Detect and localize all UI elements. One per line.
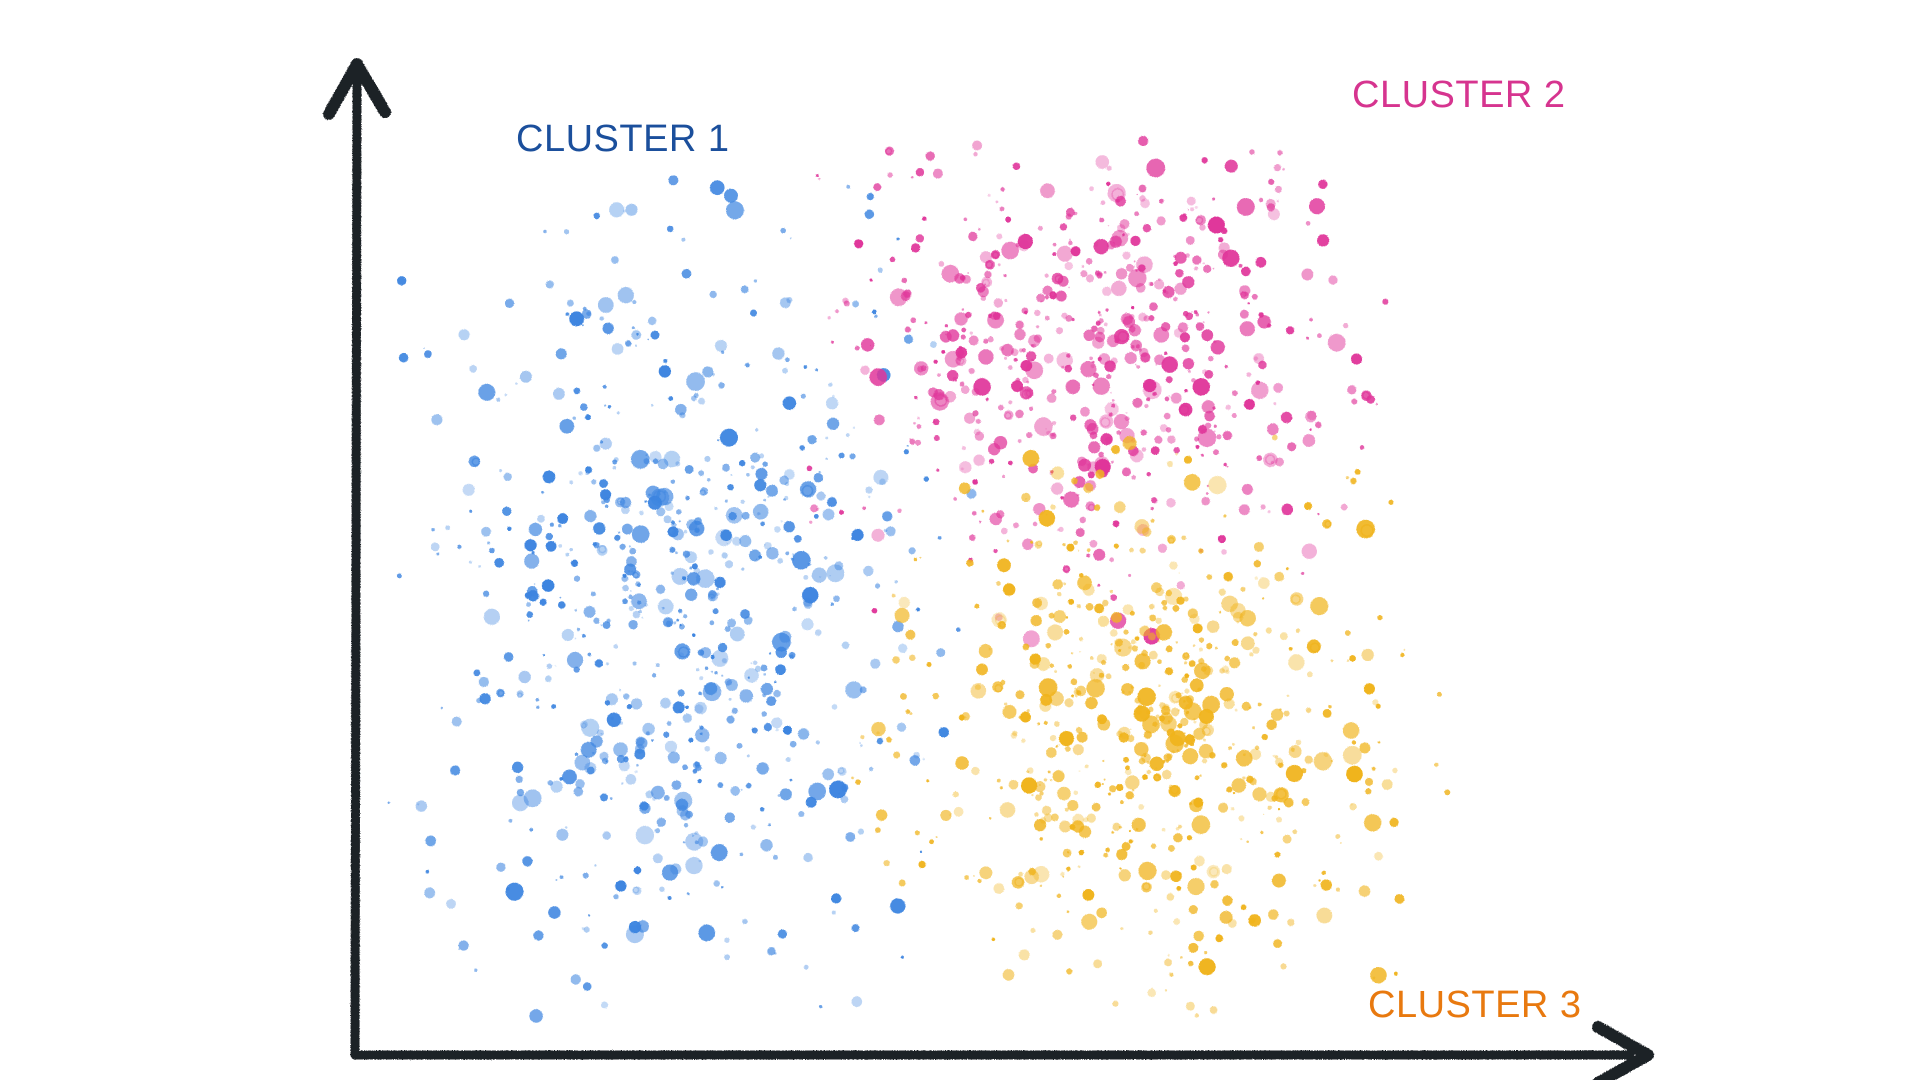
data-point [842, 298, 848, 304]
data-point [570, 548, 573, 551]
data-point [996, 233, 1002, 239]
data-point [1267, 423, 1279, 435]
data-point [1252, 726, 1255, 729]
data-point [1359, 743, 1370, 754]
data-point [1201, 157, 1207, 163]
data-point-speckle [505, 394, 508, 397]
data-point [1077, 576, 1092, 591]
data-point [1210, 1006, 1218, 1014]
data-point [1347, 659, 1349, 661]
data-point [445, 525, 450, 530]
data-point [751, 825, 756, 830]
data-point [1273, 383, 1283, 393]
data-point [397, 573, 402, 578]
data-point-speckle [1121, 690, 1124, 693]
data-point-speckle [882, 818, 883, 819]
data-point [996, 581, 1001, 586]
data-point-speckle [565, 826, 567, 828]
data-point [1066, 544, 1074, 552]
data-point [732, 537, 741, 546]
data-point [899, 880, 906, 887]
data-point [459, 329, 470, 340]
data-point [886, 526, 896, 536]
data-point [1347, 385, 1356, 394]
data-point [1132, 818, 1146, 832]
data-point [1252, 647, 1259, 654]
data-point-speckle [911, 176, 914, 179]
data-point [509, 819, 513, 823]
data-point [1249, 652, 1253, 656]
data-point [1008, 461, 1013, 466]
data-point [606, 662, 609, 665]
data-point [1231, 778, 1246, 793]
data-point [715, 529, 732, 546]
data-point [1328, 275, 1337, 284]
data-point [929, 839, 934, 844]
data-point [942, 265, 960, 283]
data-point [1355, 469, 1361, 475]
data-point [1306, 221, 1311, 226]
data-point [1089, 357, 1093, 361]
data-point [1242, 702, 1251, 711]
data-point [600, 438, 612, 450]
data-point [922, 217, 926, 221]
data-point [698, 398, 705, 405]
data-point-speckle [704, 685, 706, 687]
data-point [681, 238, 685, 242]
data-point [585, 466, 592, 473]
data-point [757, 762, 769, 774]
data-point [1003, 705, 1017, 719]
data-point [845, 832, 855, 842]
data-point [1266, 720, 1276, 730]
data-point [904, 449, 909, 454]
data-point [1130, 236, 1140, 246]
plot-canvas [0, 0, 1920, 1080]
data-point [581, 719, 599, 737]
data-point [930, 341, 937, 348]
data-point [992, 938, 996, 942]
data-point [1071, 652, 1073, 654]
data-point [704, 682, 717, 695]
data-point [1038, 226, 1043, 231]
data-point-speckle [828, 316, 831, 319]
data-point-speckle [907, 445, 909, 447]
data-point [478, 565, 481, 568]
data-point [803, 365, 807, 369]
data-point [1001, 242, 1019, 260]
data-point [714, 671, 717, 674]
data-point-speckle [1108, 225, 1109, 226]
data-point [840, 795, 848, 803]
data-point [822, 768, 834, 780]
data-point [704, 456, 710, 462]
data-point [1080, 270, 1087, 277]
data-point-speckle [1118, 614, 1121, 617]
data-point [1101, 200, 1106, 205]
data-point [975, 432, 984, 441]
data-point-speckle [763, 673, 766, 676]
data-point [870, 659, 880, 669]
data-point [1328, 334, 1346, 352]
data-point [658, 599, 674, 615]
data-point [782, 368, 788, 374]
data-point [1199, 224, 1205, 230]
data-point [566, 312, 569, 315]
data-point [932, 693, 939, 700]
data-point [936, 648, 945, 657]
data-point [613, 644, 618, 649]
data-point [751, 465, 755, 469]
data-point [1201, 329, 1213, 341]
data-point [1249, 706, 1252, 709]
data-point [1179, 214, 1187, 222]
data-point [1057, 352, 1073, 368]
data-point [1365, 778, 1373, 786]
data-point [479, 693, 490, 704]
data-point [801, 618, 813, 630]
data-point [1040, 884, 1042, 886]
cluster-2-label: CLUSTER 2 [1352, 76, 1566, 114]
data-point [1098, 357, 1102, 361]
data-point [947, 370, 958, 381]
data-point [651, 331, 660, 340]
data-point [1131, 306, 1134, 309]
data-point [1173, 297, 1178, 302]
data-point [593, 618, 599, 624]
cluster-points-cluster-3 [851, 435, 1450, 1018]
data-point [1280, 632, 1288, 640]
data-point [397, 276, 406, 285]
data-point [656, 585, 665, 594]
data-point [846, 433, 850, 437]
data-point [601, 500, 605, 504]
data-point [867, 193, 874, 200]
data-point [769, 652, 771, 654]
data-point [1096, 272, 1102, 278]
data-point [639, 803, 650, 814]
data-point [476, 698, 481, 703]
data-point [1434, 763, 1438, 767]
data-point-speckle [936, 836, 938, 838]
data-point [1155, 617, 1161, 623]
data-point [1194, 663, 1211, 680]
data-point [1045, 274, 1049, 278]
data-point [1242, 484, 1253, 495]
data-point [575, 752, 579, 756]
data-point [1444, 789, 1450, 795]
data-point [1161, 356, 1178, 373]
data-point [636, 826, 654, 844]
data-point [595, 659, 603, 667]
data-point-speckle [1261, 704, 1262, 705]
data-point [815, 629, 822, 636]
data-point [1055, 745, 1058, 748]
data-point [969, 336, 979, 346]
data-point-speckle [923, 758, 925, 760]
data-point [621, 506, 630, 515]
data-point [804, 600, 813, 609]
data-point [1036, 325, 1039, 328]
data-point [529, 523, 542, 536]
data-point [1256, 455, 1262, 461]
data-point [895, 608, 910, 623]
data-point [685, 811, 693, 819]
data-point [632, 525, 650, 543]
data-point [700, 647, 711, 658]
data-point-speckle [917, 417, 920, 420]
data-point [663, 617, 673, 627]
data-point [869, 278, 872, 281]
data-point [780, 788, 792, 800]
data-point [1174, 283, 1186, 295]
data-point-speckle [721, 675, 723, 677]
data-point-speckle [1242, 776, 1245, 779]
data-point [1116, 849, 1127, 860]
data-point [1121, 313, 1133, 325]
data-point [1218, 803, 1228, 813]
data-point [1015, 410, 1024, 419]
data-point [1059, 731, 1074, 746]
data-point [425, 836, 436, 847]
data-point [956, 347, 968, 359]
data-point [526, 602, 531, 607]
data-point [1066, 379, 1081, 394]
data-point [556, 829, 568, 841]
data-point-speckle [1079, 651, 1080, 652]
data-point [1306, 336, 1309, 339]
data-point [1142, 774, 1148, 780]
data-point [1070, 415, 1076, 421]
data-point [668, 751, 680, 763]
data-point-speckle [1243, 753, 1246, 756]
data-point [800, 445, 805, 450]
data-point [1018, 872, 1023, 877]
data-point [1109, 557, 1114, 562]
data-point [964, 217, 968, 221]
data-point [603, 323, 614, 334]
data-point [636, 737, 648, 749]
data-point [713, 880, 719, 886]
data-point [997, 558, 1011, 572]
data-point [1240, 587, 1245, 592]
data-point-speckle [819, 576, 821, 578]
data-point-speckle [1099, 720, 1101, 722]
data-point [1071, 478, 1078, 485]
data-point [675, 461, 680, 466]
data-point [1437, 692, 1442, 697]
cluster-points-cluster-1 [388, 175, 977, 1023]
data-point [720, 429, 738, 447]
data-point [956, 627, 961, 632]
data-point-speckle [764, 544, 766, 546]
data-point [1154, 909, 1158, 913]
data-point [972, 388, 980, 396]
data-point [634, 867, 642, 875]
data-point [1213, 407, 1216, 410]
data-point [1360, 445, 1364, 449]
data-point [1131, 475, 1136, 480]
data-point [1003, 969, 1015, 981]
data-point [1180, 332, 1190, 342]
data-point [783, 498, 786, 501]
data-point [1030, 928, 1035, 933]
data-point [1277, 150, 1282, 155]
data-point-speckle [868, 496, 870, 498]
data-point-speckle [776, 728, 779, 731]
data-point-speckle [1026, 381, 1029, 384]
data-point [1324, 752, 1329, 757]
data-point-speckle [1139, 349, 1142, 352]
data-point-speckle [629, 545, 631, 547]
data-point [1106, 374, 1111, 379]
data-point-speckle [870, 345, 871, 346]
data-point-speckle [1376, 403, 1378, 405]
data-point-speckle [818, 178, 820, 180]
data-point [825, 436, 828, 439]
data-point [730, 786, 740, 796]
data-point [1256, 381, 1260, 385]
data-point [505, 299, 514, 308]
data-point-speckle [458, 948, 460, 950]
data-point-speckle [961, 468, 964, 471]
data-point [1172, 605, 1179, 612]
data-point-speckle [874, 315, 877, 318]
data-point [625, 340, 631, 346]
data-point [1317, 333, 1322, 338]
data-point [749, 550, 761, 562]
data-point [897, 509, 901, 513]
data-point [607, 713, 621, 727]
data-point [926, 779, 929, 782]
data-point-speckle [1214, 340, 1217, 343]
data-point [1183, 597, 1188, 602]
data-point [1089, 186, 1094, 191]
data-point [978, 349, 993, 364]
data-point [1169, 561, 1177, 569]
data-point-speckle [1277, 200, 1279, 202]
data-point [767, 947, 775, 955]
data-point [693, 761, 700, 768]
data-point [1086, 274, 1094, 282]
data-point [593, 445, 600, 452]
data-point [1039, 510, 1056, 527]
data-point [1362, 649, 1374, 661]
data-point [633, 661, 637, 665]
data-point-speckle [582, 324, 584, 326]
data-point-speckle [1179, 572, 1180, 573]
data-point-speckle [1104, 779, 1106, 781]
data-point [1377, 615, 1382, 620]
data-point [613, 466, 617, 470]
data-point [959, 482, 971, 494]
data-point [798, 728, 809, 739]
data-point-speckle [647, 339, 649, 341]
data-point [1281, 412, 1292, 423]
data-point [1208, 476, 1226, 494]
data-point [784, 469, 795, 480]
data-point [1019, 348, 1023, 352]
data-point [1088, 441, 1100, 453]
data-point [1246, 841, 1249, 844]
data-point [790, 741, 797, 748]
data-point [742, 512, 750, 520]
data-point-speckle [1126, 412, 1128, 414]
data-point [1068, 599, 1074, 605]
data-point [1067, 800, 1078, 811]
data-point [973, 455, 984, 466]
data-point [816, 740, 820, 744]
data-point [801, 394, 806, 399]
data-point [1225, 365, 1228, 368]
data-point [1188, 961, 1194, 967]
data-point [1191, 378, 1195, 382]
data-point [602, 942, 608, 948]
data-point [1169, 973, 1173, 977]
data-point-speckle [832, 395, 835, 398]
data-point [547, 664, 552, 669]
data-point [537, 515, 545, 523]
data-point-speckle [604, 404, 606, 406]
data-point-speckle [1199, 774, 1201, 776]
data-point [1286, 765, 1303, 782]
data-point [875, 827, 881, 833]
data-point [832, 704, 838, 710]
data-point [924, 476, 929, 481]
data-point-speckle [731, 474, 733, 476]
data-point [1110, 629, 1117, 636]
data-point [1195, 1013, 1199, 1017]
data-point [1214, 425, 1217, 428]
data-point [1194, 856, 1205, 867]
data-point [1024, 311, 1028, 315]
data-point [1187, 835, 1192, 840]
data-point [1287, 695, 1289, 697]
data-point [892, 656, 899, 663]
data-point [979, 866, 992, 879]
data-point [1086, 679, 1104, 697]
data-point-speckle [876, 731, 879, 734]
data-point [1149, 651, 1158, 660]
data-point [838, 452, 844, 458]
data-point [1083, 817, 1088, 822]
data-point [1096, 907, 1107, 918]
data-point [1053, 770, 1065, 782]
data-point-speckle [1203, 739, 1206, 742]
data-point [1063, 849, 1072, 858]
data-point-speckle [1031, 359, 1033, 361]
data-point [988, 336, 994, 342]
data-point [872, 310, 877, 315]
data-point [916, 608, 920, 612]
data-point [1273, 939, 1282, 948]
data-point [669, 547, 675, 553]
data-point [1052, 421, 1056, 425]
data-point [618, 287, 634, 303]
data-point [1192, 255, 1201, 264]
data-point [436, 553, 439, 556]
data-point-speckle [1068, 287, 1069, 288]
data-point [1201, 497, 1210, 506]
data-point [1102, 600, 1108, 606]
data-point [519, 671, 531, 683]
data-point [785, 482, 789, 486]
data-point [882, 511, 892, 521]
data-point-speckle [646, 454, 648, 456]
data-point [686, 372, 705, 391]
data-point-speckle [631, 570, 633, 572]
data-point [1106, 673, 1112, 679]
